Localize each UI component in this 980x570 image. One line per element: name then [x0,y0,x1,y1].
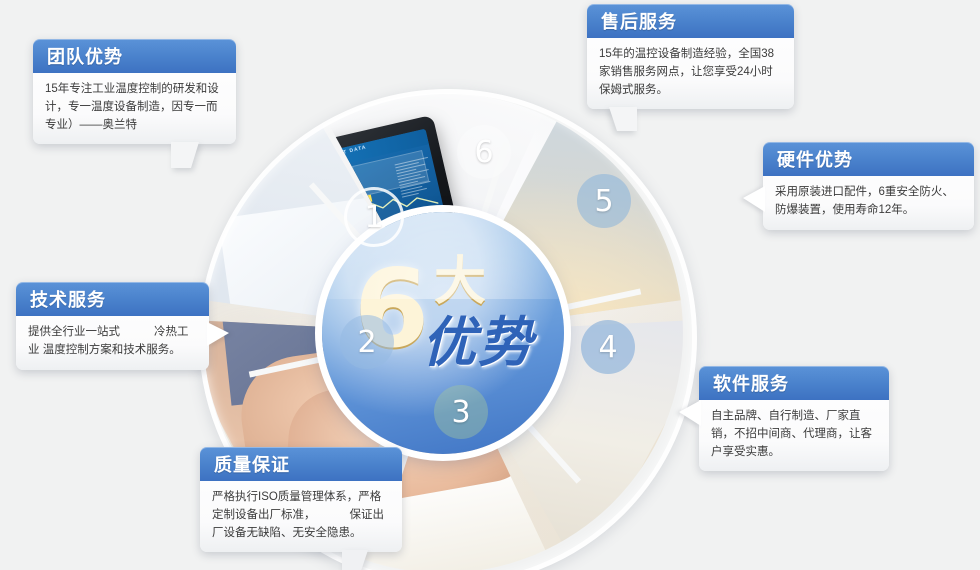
segment-badge-6[interactable]: 6 [457,125,511,179]
callout-tail-technical [207,322,229,346]
segment-badge-4[interactable]: 4 [581,320,635,374]
card-body-quality: 严格执行ISO质量管理体系，严格 定制设备出厂标准，保证出 厂设备无缺陷、无安全… [200,481,402,552]
card-body-quality-line1: 严格执行ISO质量管理体系，严格 [212,491,381,503]
callout-card-team-advantage[interactable]: 团队优势 15年专注工业温度控制的研发和设计，专一温度设备制造，因专一而专业）—… [33,39,236,144]
card-title-quality: 质量保证 [214,451,290,477]
card-body-quality-line3: 厂设备无缺陷、无安全隐患。 [212,527,362,539]
infographic-canvas: STOCK MARKET DATA INTC 440.96 [0,0,980,570]
card-header-software: 软件服务 [699,366,889,400]
card-body-technical: 提供全行业一站式冷热工业 温度控制方案和技术服务。 [16,316,209,370]
segment-badge-5[interactable]: 5 [577,174,631,228]
callout-card-hardware[interactable]: 硬件优势 采用原装进口配件，6重安全防火、防爆装置，使用寿命12年。 [763,142,974,230]
center-script-label: 优势 [422,316,534,370]
card-header-hardware: 硬件优势 [763,142,974,176]
segment-badge-1[interactable]: 1 [344,187,404,247]
card-body-quality-line2b: 保证出 [350,509,385,521]
callout-card-software[interactable]: 软件服务 自主品牌、自行制造、厂家直销，不招中间商、代理商，让客户享受实惠。 [699,366,889,471]
card-body-quality-line2a: 定制设备出厂标准， [212,509,316,521]
callout-tail-after-sales [609,107,637,131]
callout-card-quality[interactable]: 质量保证 严格执行ISO质量管理体系，严格 定制设备出厂标准，保证出 厂设备无缺… [200,447,402,552]
center-number-label: 大 [434,256,486,308]
card-header-team: 团队优势 [33,39,236,73]
card-body-after-sales: 15年的温控设备制造经验，全国38家销售服务网点，让您享受24小时保姆式服务。 [587,38,794,109]
card-body-hardware: 采用原装进口配件，6重安全防火、防爆装置，使用寿命12年。 [763,176,974,230]
callout-card-after-sales[interactable]: 售后服务 15年的温控设备制造经验，全国38家销售服务网点，让您享受24小时保姆… [587,4,794,109]
card-title-after-sales: 售后服务 [601,8,677,34]
callout-tail-software [679,400,701,426]
callout-tail-hardware [743,186,765,212]
callout-tail-quality [342,550,368,570]
card-title-software: 软件服务 [713,370,789,396]
card-title-hardware: 硬件优势 [777,146,853,172]
card-header-quality: 质量保证 [200,447,402,481]
segment-badge-3[interactable]: 3 [434,385,488,439]
callout-card-technical[interactable]: 技术服务 提供全行业一站式冷热工业 温度控制方案和技术服务。 [16,282,209,370]
card-title-technical: 技术服务 [30,286,106,312]
card-header-after-sales: 售后服务 [587,4,794,38]
callout-tail-team [171,142,199,168]
card-body-team: 15年专注工业温度控制的研发和设计，专一温度设备制造，因专一而专业）——奥兰特 [33,73,236,144]
card-body-software: 自主品牌、自行制造、厂家直销，不招中间商、代理商，让客户享受实惠。 [699,400,889,471]
card-body-technical-line2: 温度控制方案和技术服务。 [43,344,181,356]
card-body-technical-line1a: 提供全行业一站式 [28,326,120,338]
card-header-technical: 技术服务 [16,282,209,316]
card-title-team: 团队优势 [47,43,123,69]
segment-badge-2[interactable]: 2 [340,315,394,369]
